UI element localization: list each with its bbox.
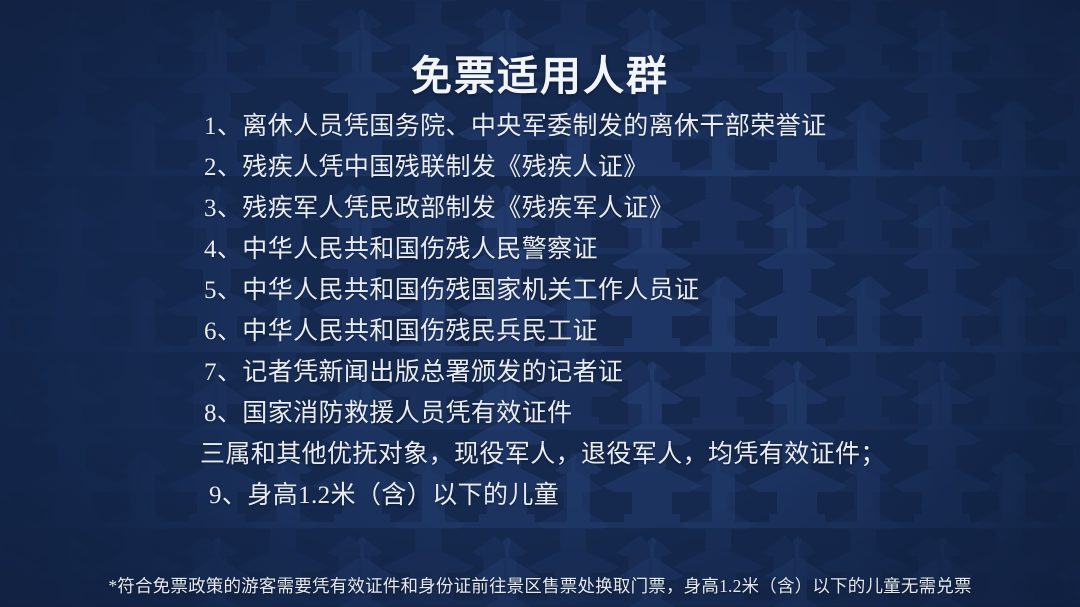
list-item: 6、中华人民共和国伤残民兵民工证 [200, 311, 1060, 352]
page-title: 免票适用人群 [0, 51, 1080, 101]
list-item: 3、残疾军人凭民政部制发《残疾军人证》 [200, 188, 1060, 229]
list-item: 三属和其他优抚对象，现役军人，退役军人，均凭有效证件； [200, 434, 1060, 475]
list-item: 4、中华人民共和国伤残人民警察证 [200, 229, 1060, 270]
eligibility-list: 1、离休人员凭国务院、中央军委制发的离休干部荣誉证 2、残疾人凭中国残联制发《残… [200, 106, 1060, 516]
footnote-text: *符合免票政策的游客需要凭有效证件和身份证前往景区售票处换取门票，身高1.2米（… [0, 573, 1080, 599]
slide-content: 免票适用人群 1、离休人员凭国务院、中央军委制发的离休干部荣誉证 2、残疾人凭中… [0, 0, 1080, 607]
list-item: 5、中华人民共和国伤残国家机关工作人员证 [200, 270, 1060, 311]
list-item: 9、身高1.2米（含）以下的儿童 [200, 475, 1060, 516]
list-item: 1、离休人员凭国务院、中央军委制发的离休干部荣誉证 [200, 106, 1060, 147]
list-item: 8、国家消防救援人员凭有效证件 [200, 393, 1060, 434]
list-item: 7、记者凭新闻出版总署颁发的记者证 [200, 352, 1060, 393]
slide-root: 免票适用人群 1、离休人员凭国务院、中央军委制发的离休干部荣誉证 2、残疾人凭中… [0, 0, 1080, 607]
list-item: 2、残疾人凭中国残联制发《残疾人证》 [200, 147, 1060, 188]
